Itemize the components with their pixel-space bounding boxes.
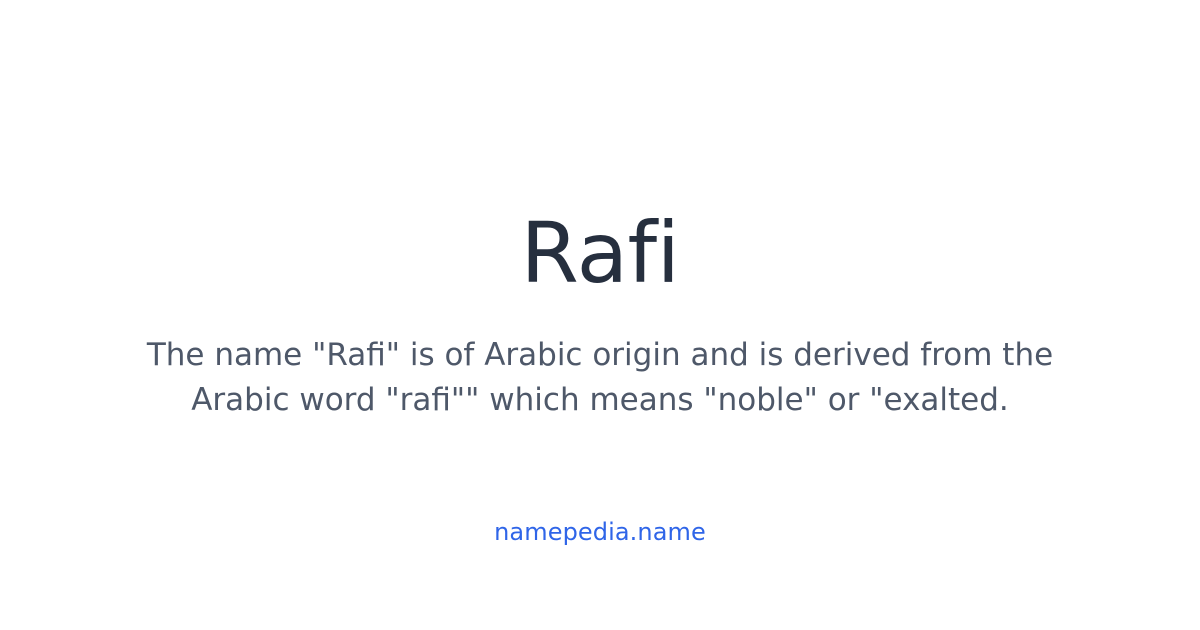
page-title: Rafi [0, 206, 1200, 300]
name-info-card: Rafi The name "Rafi" is of Arabic origin… [0, 0, 1200, 630]
name-description: The name "Rafi" is of Arabic origin and … [100, 333, 1100, 423]
site-link[interactable]: namepedia.name [494, 518, 706, 546]
description-line-1: The name "Rafi" is of Arabic origin and … [100, 333, 1100, 378]
description-line-2: Arabic word "rafi"" which means "noble" … [100, 378, 1100, 423]
footer: namepedia.name [0, 518, 1200, 546]
